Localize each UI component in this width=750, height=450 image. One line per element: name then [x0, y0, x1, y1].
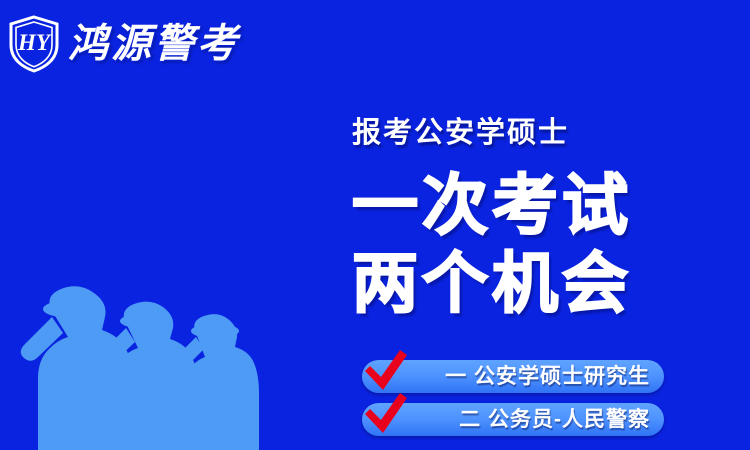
shield-logo-icon: HY	[8, 15, 60, 73]
benefit-badge-1-label: 一 公安学硕士研究生	[445, 366, 650, 387]
brand-logo[interactable]: HY 鸿源警考	[8, 14, 240, 74]
benefit-badge-list: 一 公安学硕士研究生 二 公务员-人民警察	[362, 360, 664, 436]
benefit-badge-2-label: 二 公务员-人民警察	[459, 409, 650, 430]
logo-monogram-text: HY	[17, 30, 52, 55]
saluting-police-officers-silhouette	[0, 275, 300, 450]
hero-text-block: 报考公安学硕士 一次考试 两个机会	[352, 118, 682, 316]
red-check-icon	[360, 391, 412, 437]
hero-headline-line-1: 一次考试	[352, 172, 682, 238]
brand-wordmark: 鸿源警考	[68, 24, 240, 64]
benefit-badge-2[interactable]: 二 公务员-人民警察	[362, 403, 664, 436]
red-check-icon	[360, 348, 412, 394]
promotional-banner: HY 鸿源警考 报考公安学硕士	[0, 0, 750, 450]
hero-headline-line-2: 两个机会	[352, 250, 682, 316]
hero-subtitle: 报考公安学硕士	[352, 118, 682, 150]
benefit-badge-1[interactable]: 一 公安学硕士研究生	[362, 360, 664, 393]
